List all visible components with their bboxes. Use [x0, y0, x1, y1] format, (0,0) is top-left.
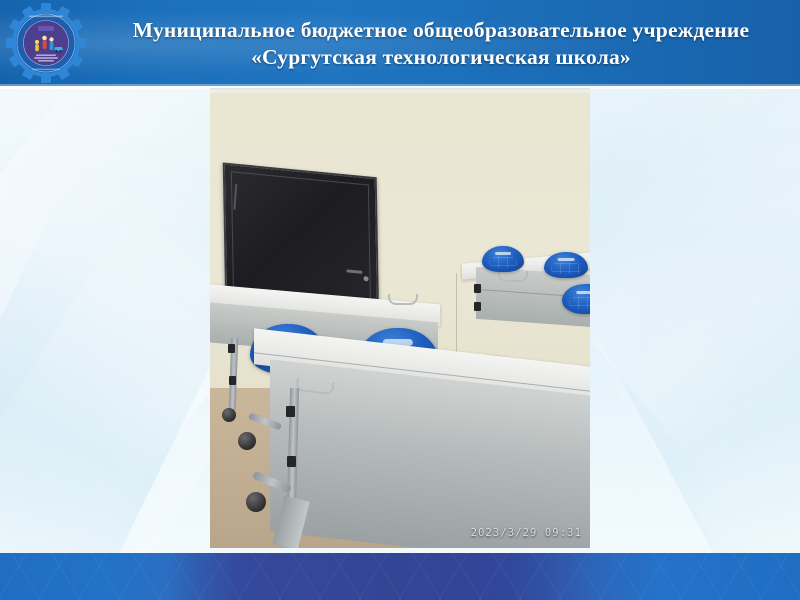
chair-texture [489, 257, 518, 268]
photo-timestamp: 2023/3/29 09:31 [471, 527, 582, 539]
chair-handle-slot [576, 291, 590, 295]
slide-footer [0, 553, 800, 600]
footer-texture [0, 553, 800, 600]
chair-texture [569, 297, 590, 310]
desk-clamp [286, 406, 295, 417]
chair-texture [551, 263, 581, 274]
desk-clamp [228, 344, 235, 353]
desk-caster [238, 432, 256, 450]
chair-handle-slot [495, 252, 511, 255]
presentation-slide: Муниципальное бюджетное общеобразователь… [0, 0, 800, 600]
school-gear-emblem-icon [6, 2, 86, 84]
page-title: Муниципальное бюджетное общеобразователь… [88, 18, 794, 70]
desk-clamp [474, 284, 481, 293]
blue-chair [544, 252, 588, 278]
title-line-1: Муниципальное бюджетное общеобразователь… [88, 18, 794, 43]
title-line-2: «Сургутская технологическая школа» [88, 45, 794, 70]
door-lock-icon [363, 276, 368, 281]
desk-clamp [229, 376, 236, 385]
desk-hook [498, 271, 528, 282]
desk-clamp [287, 456, 296, 467]
chair-handle-slot [558, 258, 575, 261]
desk-hook [388, 294, 418, 305]
blue-chair [482, 246, 524, 272]
classroom-photo: 2023/3/29 09:31 [210, 88, 590, 548]
photo-scene: 2023/3/29 09:31 [210, 88, 590, 548]
desk-caster [246, 492, 266, 512]
ceiling-trim [210, 88, 590, 94]
desk-caster [222, 408, 236, 422]
desk-clamp [474, 302, 481, 311]
